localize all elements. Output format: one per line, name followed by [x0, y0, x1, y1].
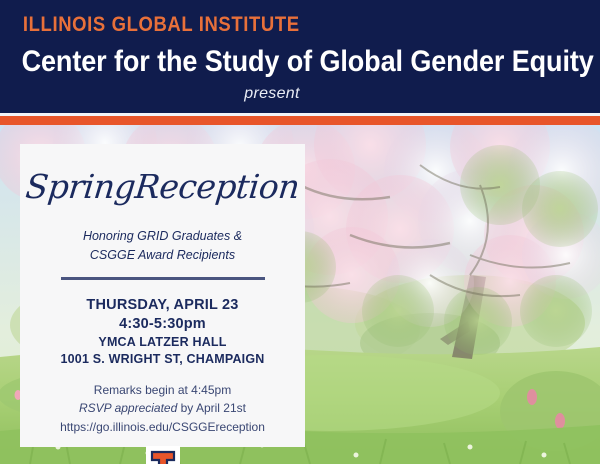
- event-title: SpringReception: [18, 170, 306, 203]
- rsvp-emphasis: RSVP appreciated: [79, 401, 177, 415]
- rsvp-deadline: by April 21st: [177, 401, 246, 415]
- remarks-note: Remarks begin at 4:45pm: [20, 381, 305, 400]
- event-date: THURSDAY, APRIL 23: [20, 296, 305, 315]
- institute-name: ILLINOIS GLOBAL INSTITUTE: [0, 14, 528, 35]
- center-name: Center for the Study of Global Gender Eq…: [0, 46, 540, 77]
- header-banner: ILLINOIS GLOBAL INSTITUTE Center for the…: [0, 0, 600, 113]
- rsvp-note: RSVP appreciated by April 21st: [20, 399, 305, 418]
- event-time: 4:30-5:30pm: [20, 315, 305, 334]
- block-i-icon: [150, 450, 176, 464]
- honoring-text: Honoring GRID Graduates & CSGGE Award Re…: [20, 227, 305, 265]
- present-label: present: [0, 85, 572, 103]
- flyer-canvas: ILLINOIS GLOBAL INSTITUTE Center for the…: [0, 0, 600, 464]
- illinois-block-i-logo: [146, 446, 180, 464]
- event-address: 1001 S. WRIGHT ST, CHAMPAIGN: [20, 351, 305, 368]
- header-orange-rule: [0, 116, 600, 125]
- event-venue: YMCA LATZER HALL: [20, 334, 305, 351]
- event-notes: Remarks begin at 4:45pm RSVP appreciated…: [20, 381, 305, 437]
- card-divider: [61, 277, 265, 280]
- event-card: SpringReception Honoring GRID Graduates …: [20, 144, 305, 447]
- honoring-line-1: Honoring GRID Graduates &: [20, 227, 305, 246]
- honoring-line-2: CSGGE Award Recipients: [20, 246, 305, 265]
- rsvp-url[interactable]: https://go.illinois.edu/CSGGEreception: [20, 418, 305, 437]
